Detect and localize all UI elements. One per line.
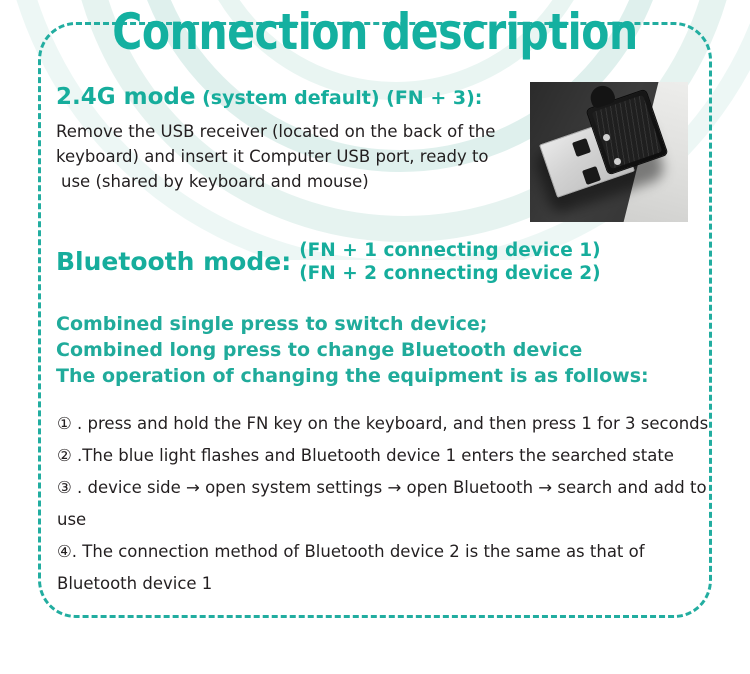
bluetooth-shortcut-line: (FN + 2 connecting device 2) [299, 262, 600, 285]
heading-24g-sub: (system default) (FN + 3): [195, 87, 482, 109]
list-item: ④. The connection method of Bluetooth de… [57, 536, 712, 600]
operation-line: The operation of changing the equipment … [56, 363, 649, 389]
bluetooth-mode-label: Bluetooth mode: [56, 247, 291, 277]
operations-block: Combined single press to switch device; … [56, 311, 649, 389]
heading-24g-mode: 2.4G mode (system default) (FN + 3): [56, 84, 716, 112]
paragraph-24g-instructions: Remove the USB receiver (located on the … [56, 119, 506, 194]
heading-24g-main: 2.4G mode [56, 84, 195, 110]
list-item: ③ . device side → open system settings →… [57, 472, 712, 536]
list-item: ② .The blue light flashes and Bluetooth … [57, 440, 712, 472]
bluetooth-shortcut-line: (FN + 1 connecting device 1) [299, 239, 600, 262]
list-item: ① . press and hold the FN key on the key… [57, 408, 712, 440]
content-area: 2.4G mode (system default) (FN + 3): Rem… [56, 84, 716, 194]
operation-line: Combined single press to switch device; [56, 311, 649, 337]
paragraph-line: keyboard) and insert it Computer USB por… [56, 144, 506, 169]
bluetooth-mode-shortcuts: (FN + 1 connecting device 1) (FN + 2 con… [299, 239, 600, 285]
paragraph-line: Remove the USB receiver (located on the … [56, 119, 506, 144]
steps-list: ① . press and hold the FN key on the key… [57, 408, 712, 600]
connection-description-page: Connection description 2.4G mode (system… [0, 0, 750, 674]
page-title: Connection description [68, 2, 683, 62]
operation-line: Combined long press to change Bluetooth … [56, 337, 649, 363]
bluetooth-mode-block: Bluetooth mode: (FN + 1 connecting devic… [56, 239, 601, 285]
paragraph-line: use (shared by keyboard and mouse) [56, 169, 506, 194]
